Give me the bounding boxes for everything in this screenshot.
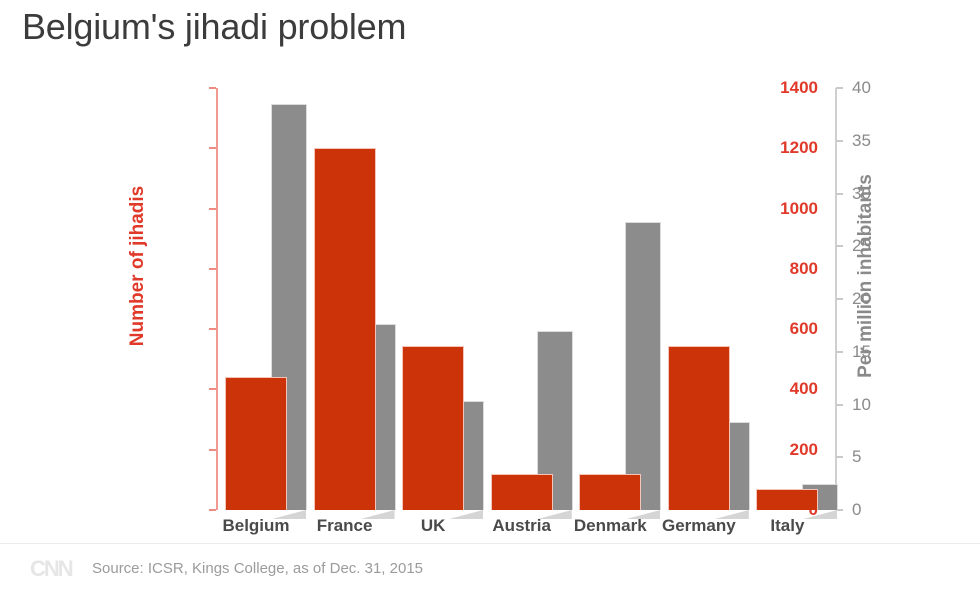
x-axis-category-label: Denmark [567, 516, 653, 536]
x-axis-category-label: France [302, 516, 388, 536]
x-axis-category-label: Italy [744, 516, 830, 536]
right-axis-tick [836, 298, 843, 300]
bar-jihadis[interactable] [668, 346, 730, 510]
right-axis-tick [836, 245, 843, 247]
left-axis-title: Number of jihadis [127, 136, 149, 396]
left-axis-tick-label: 200 [790, 441, 818, 458]
left-axis-tick-label: 600 [790, 320, 818, 337]
left-axis-tick-label: 1200 [780, 139, 818, 156]
right-axis-tick-label: 25 [852, 237, 871, 254]
left-axis-tick [209, 388, 216, 390]
x-axis-category-label: Belgium [213, 516, 299, 536]
bar-jihadis[interactable] [756, 489, 818, 510]
bar-jihadis[interactable] [314, 148, 376, 510]
bar-group [491, 80, 580, 510]
bars-container [216, 80, 836, 510]
left-axis-tick [209, 328, 216, 330]
bar-jihadis[interactable] [402, 346, 464, 510]
right-axis-tick [836, 456, 843, 458]
bar-group [225, 80, 314, 510]
left-axis-tick [209, 208, 216, 210]
right-axis-tick-label: 15 [852, 343, 871, 360]
bar-group [402, 80, 491, 510]
bar-group [314, 80, 403, 510]
bar-group [668, 80, 757, 510]
right-axis-tick [836, 140, 843, 142]
right-axis-tick-label: 40 [852, 79, 871, 96]
bar-per-million[interactable] [625, 222, 661, 510]
right-axis-tick [836, 87, 843, 89]
right-axis-tick [836, 193, 843, 195]
bar-jihadis[interactable] [491, 474, 553, 510]
right-axis-tick-label: 10 [852, 396, 871, 413]
x-axis-category-label: Austria [479, 516, 565, 536]
left-axis-tick-label: 400 [790, 380, 818, 397]
left-axis-tick [209, 268, 216, 270]
page-title: Belgium's jihadi problem [22, 6, 406, 48]
bar-group [579, 80, 668, 510]
bar-jihadis[interactable] [579, 474, 641, 510]
left-axis-tick [209, 449, 216, 451]
footer-divider [0, 543, 980, 544]
left-axis-tick [209, 147, 216, 149]
chart-plot-area: Number of jihadis Per million inhabitant… [216, 80, 836, 510]
right-axis-tick-label: 20 [852, 290, 871, 307]
source-caption: Source: ICSR, Kings College, as of Dec. … [92, 560, 423, 577]
left-axis-tick [209, 87, 216, 89]
right-axis-tick-label: 35 [852, 132, 871, 149]
right-axis-tick-label: 0 [852, 501, 861, 518]
right-axis-title: Per million inhabitants [855, 126, 877, 426]
right-axis-tick [836, 404, 843, 406]
chart-page: Belgium's jihadi problem Number of jihad… [0, 0, 980, 589]
x-axis-category-label: Germany [656, 516, 742, 536]
bar-jihadis[interactable] [225, 377, 287, 510]
left-axis-tick-label: 1400 [780, 79, 818, 96]
cnn-logo: CNN [30, 556, 72, 582]
right-axis-tick-label: 30 [852, 185, 871, 202]
x-axis-category-label: UK [390, 516, 476, 536]
left-axis-tick [209, 509, 216, 511]
right-axis-tick [836, 351, 843, 353]
left-axis-tick-label: 800 [790, 260, 818, 277]
left-axis-tick-label: 1000 [780, 200, 818, 217]
right-axis-tick-label: 5 [852, 448, 861, 465]
